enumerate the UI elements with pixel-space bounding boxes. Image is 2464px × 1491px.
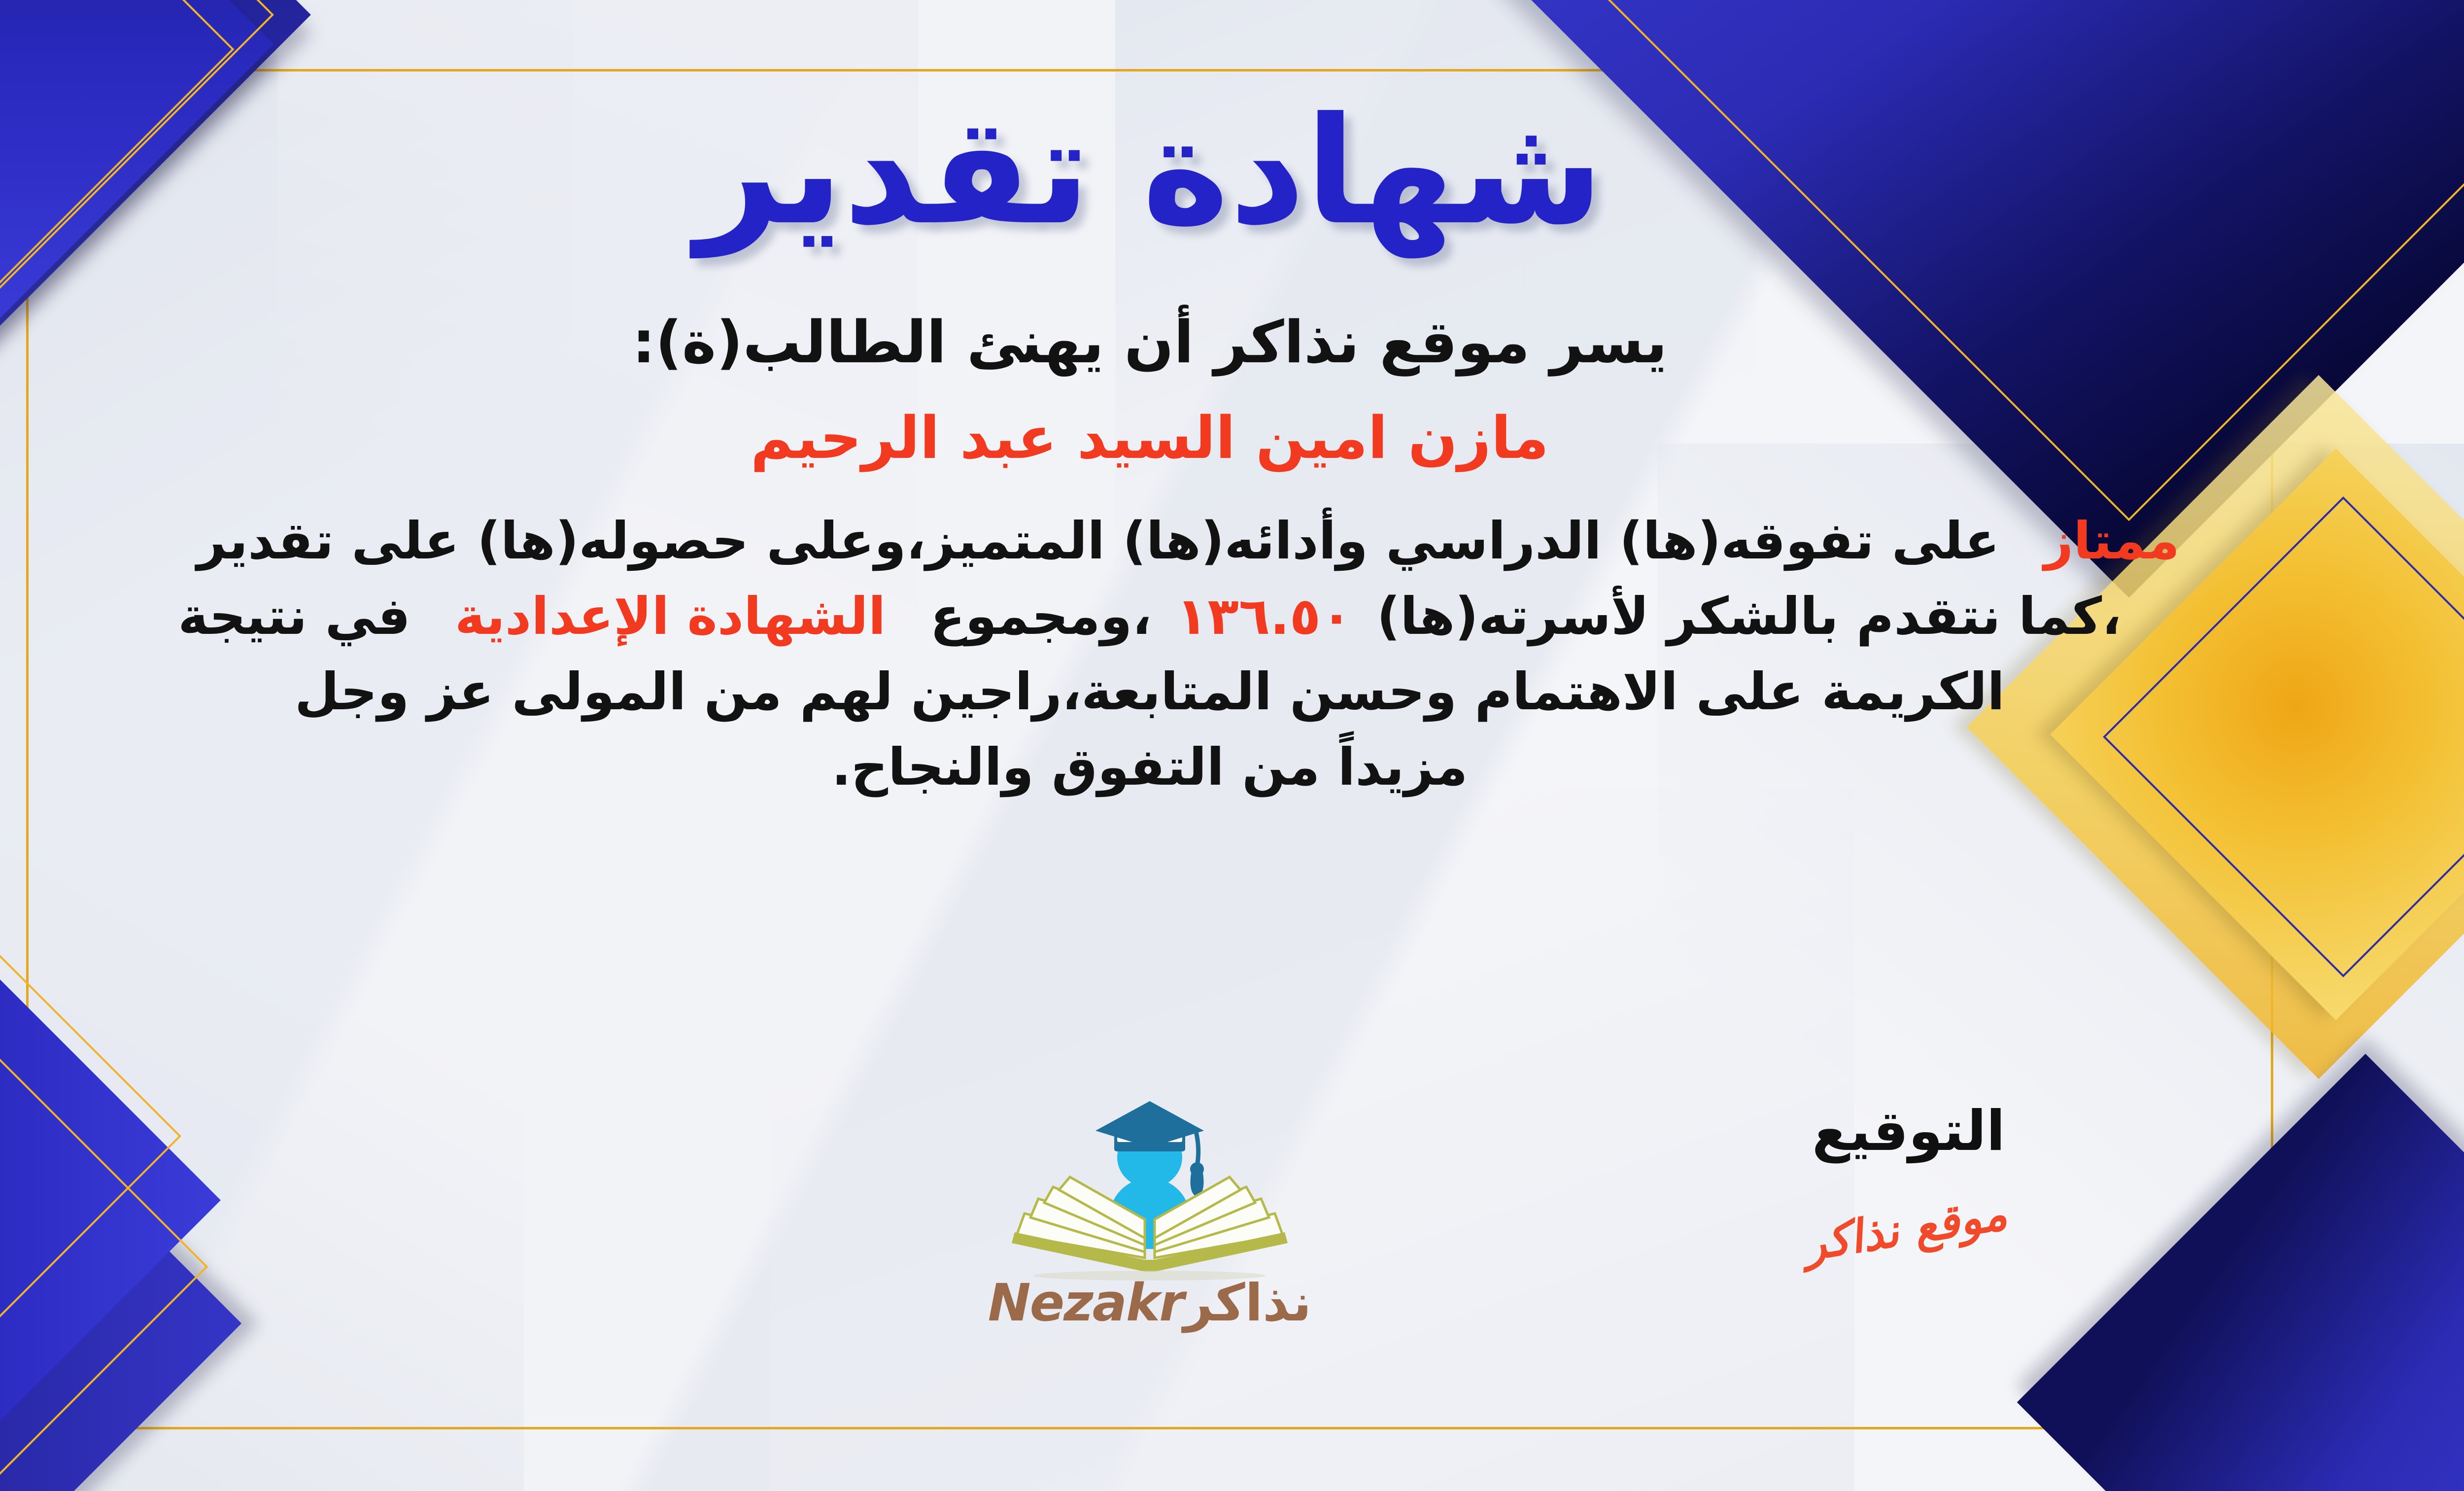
body-line-4: مزيداً من التفوق والنجاح. (120, 729, 2180, 805)
body-line-1: ممتازعلى تفوقه(ها) الدراسي وأدائه(ها) ال… (120, 503, 2180, 579)
certificate-stage-value: الشهادة الإعدادية (455, 586, 886, 646)
site-logo: Nezakrنذاكر (962, 1084, 1337, 1333)
signature-block: التوقيع موقع نذاكر (1687, 1099, 2130, 1255)
logo-name-ar: نذاكر (1183, 1273, 1311, 1333)
body-line-2: ،كما نتقدم بالشكر لأسرته(ها)١٣٦.٥٠،ومجمو… (120, 579, 2180, 654)
grade-value: ممتاز (2044, 511, 2180, 571)
graduate-on-open-book-icon (997, 1084, 1302, 1282)
logo-wordmark: Nezakrنذاكر (962, 1273, 1337, 1333)
body-paragraph: ممتازعلى تفوقه(ها) الدراسي وأدائه(ها) ال… (120, 503, 2180, 805)
certificate-footer: التوقيع موقع نذاكر (90, 1084, 2209, 1400)
certificate-title: شهادة تقدير (696, 94, 1604, 249)
body-line-2-tail: ،كما نتقدم بالشكر لأسرته(ها) (1377, 586, 2122, 646)
body-line-2-mid: ،ومجموع (930, 586, 1151, 646)
body-line-2-head: في نتيجة (178, 586, 411, 646)
logo-name-en: Nezakr (988, 1273, 1184, 1333)
signature-label: التوقيع (1687, 1099, 2130, 1163)
certificate-canvas: شهادة تقدير يسر موقع نذاكر أن يهنئ الطال… (0, 0, 2464, 1491)
signature-handwriting: موقع نذاكر (1806, 1185, 2011, 1271)
intro-line: يسر موقع نذاكر أن يهنئ الطالب(ة): (632, 308, 1668, 376)
total-score-value: ١٣٦.٥٠ (1176, 586, 1352, 646)
body-line-3: الكريمة على الاهتمام وحسن المتابعة،راجين… (120, 654, 2180, 729)
student-name: مازن امين السيد عبد الرحيم (751, 404, 1549, 472)
certificate-content: شهادة تقدير يسر موقع نذاكر أن يهنئ الطال… (90, 89, 2209, 1410)
body-line-1-text: على تفوقه(ها) الدراسي وأدائه(ها) المتميز… (197, 511, 1999, 571)
